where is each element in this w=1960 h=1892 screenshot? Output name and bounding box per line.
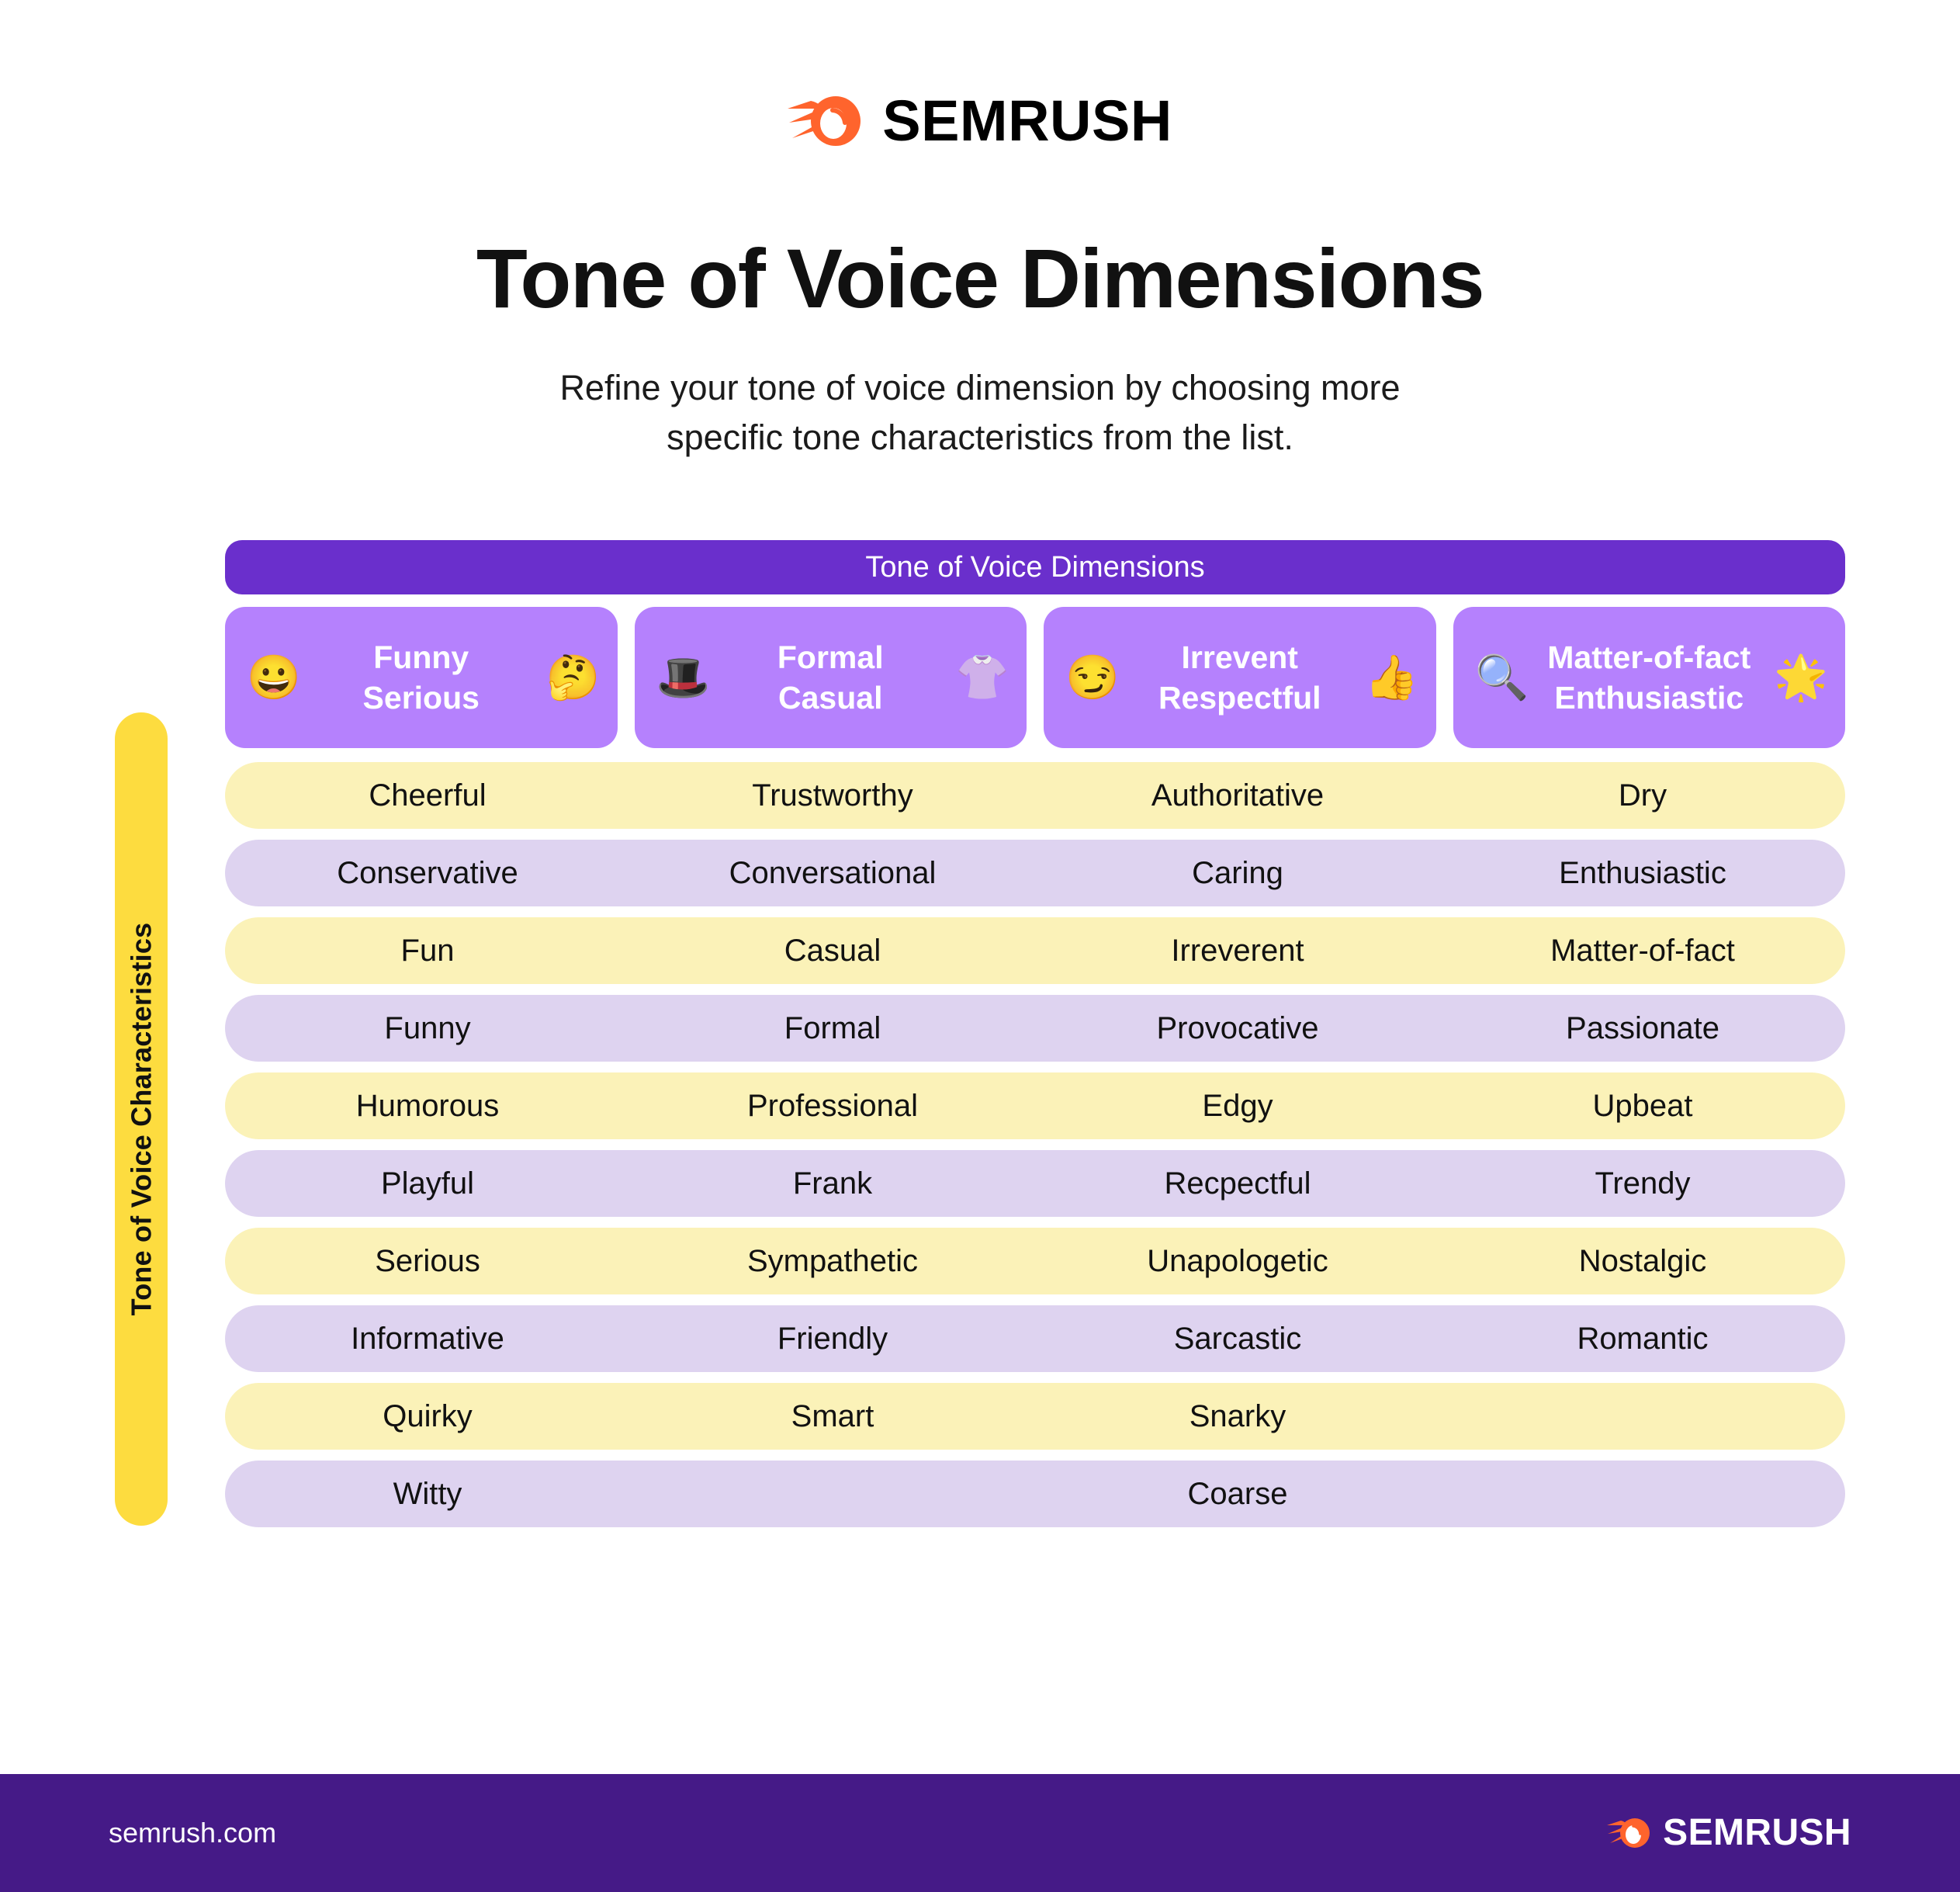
dimension-cards: 😀 Funny Serious 🤔 🎩 Formal Casual 👚 xyxy=(225,607,1845,748)
dimension-label-top: Matter-of-fact xyxy=(1547,639,1750,675)
semrush-comet-icon xyxy=(1607,1815,1650,1851)
dimension-label-top: Formal xyxy=(777,639,884,675)
dimension-card-irrevent-respectful-labels: Irrevent Respectful xyxy=(1115,637,1365,719)
table-cell[interactable]: Cheerful xyxy=(225,780,630,811)
dimension-card-matteroffact-enthusiastic[interactable]: 🔍 Matter-of-fact Enthusiastic 🌟 xyxy=(1453,607,1846,748)
characteristics-axis-label: Tone of Voice Characteristics xyxy=(115,712,168,1526)
footer-logo-lockup: SEMRUSH xyxy=(1607,1814,1851,1852)
characteristics-rows: Cheerful Trustworthy Authoritative Dry C… xyxy=(225,762,1845,1527)
table-cell[interactable]: Serious xyxy=(225,1246,630,1277)
table-cell[interactable]: Humorous xyxy=(225,1090,630,1121)
dimension-card-matteroffact-enthusiastic-labels: Matter-of-fact Enthusiastic xyxy=(1525,637,1775,719)
glowing-star-icon: 🌟 xyxy=(1774,656,1823,699)
table-row: Fun Casual Irreverent Matter-of-fact xyxy=(225,917,1845,984)
table-cell[interactable]: Provocative xyxy=(1035,1013,1440,1044)
table-cell[interactable]: Matter-of-fact xyxy=(1440,935,1845,966)
table-row: Serious Sympathetic Unapologetic Nostalg… xyxy=(225,1228,1845,1294)
semrush-wordmark: SEMRUSH xyxy=(882,92,1172,150)
dimension-card-formal-casual[interactable]: 🎩 Formal Casual 👚 xyxy=(635,607,1027,748)
table-cell[interactable]: Unapologetic xyxy=(1035,1246,1440,1277)
matrix-body: Tone of Voice Dimensions 😀 Funny Serious… xyxy=(225,540,1845,1527)
table-cell[interactable]: Professional xyxy=(630,1090,1035,1121)
table-row: Informative Friendly Sarcastic Romantic xyxy=(225,1305,1845,1372)
dimension-label-bottom: Casual xyxy=(778,680,882,716)
table-cell[interactable]: Coarse xyxy=(1035,1478,1440,1509)
table-cell[interactable]: Sarcastic xyxy=(1035,1323,1440,1354)
table-cell[interactable]: Nostalgic xyxy=(1440,1246,1845,1277)
table-cell[interactable]: Trendy xyxy=(1440,1168,1845,1199)
table-cell[interactable]: Casual xyxy=(630,935,1035,966)
table-cell[interactable]: Authoritative xyxy=(1035,780,1440,811)
dimension-label-bottom: Respectful xyxy=(1158,680,1321,716)
table-cell[interactable]: Playful xyxy=(225,1168,630,1199)
grinning-face-icon: 😀 xyxy=(247,656,296,699)
table-cell[interactable]: Edgy xyxy=(1035,1090,1440,1121)
table-cell[interactable]: Upbeat xyxy=(1440,1090,1845,1121)
brand-header: SEMRUSH xyxy=(0,0,1960,151)
table-cell[interactable]: Smart xyxy=(630,1401,1035,1432)
table-cell[interactable]: Fun xyxy=(225,935,630,966)
dimension-card-irrevent-respectful[interactable]: 😏 Irrevent Respectful 👍 xyxy=(1044,607,1436,748)
footer-bar: semrush.com SEMRUSH xyxy=(0,1774,1960,1892)
top-hat-icon: 🎩 xyxy=(656,656,706,699)
table-cell[interactable]: Frank xyxy=(630,1168,1035,1199)
table-cell[interactable]: Recpectful xyxy=(1035,1168,1440,1199)
table-cell[interactable]: Quirky xyxy=(225,1401,630,1432)
smirking-face-icon: 😏 xyxy=(1065,656,1115,699)
dimension-card-formal-casual-labels: Formal Casual xyxy=(706,637,956,719)
table-cell[interactable]: Informative xyxy=(225,1323,630,1354)
page-subtitle-line-1: Refine your tone of voice dimension by c… xyxy=(0,363,1960,413)
dimension-card-funny-serious[interactable]: 😀 Funny Serious 🤔 xyxy=(225,607,618,748)
blouse-icon: 👚 xyxy=(955,656,1005,699)
dimensions-header-text: Tone of Voice Dimensions xyxy=(865,551,1204,584)
table-cell[interactable]: Irreverent xyxy=(1035,935,1440,966)
table-cell[interactable]: Caring xyxy=(1035,858,1440,889)
table-row: Witty Coarse xyxy=(225,1461,1845,1527)
dimension-label-bottom: Serious xyxy=(363,680,480,716)
page-title: Tone of Voice Dimensions xyxy=(0,234,1960,323)
table-row: Quirky Smart Snarky xyxy=(225,1383,1845,1450)
table-row: Humorous Professional Edgy Upbeat xyxy=(225,1072,1845,1139)
characteristics-axis-label-text: Tone of Voice Characteristics xyxy=(125,923,158,1316)
magnifying-glass-icon: 🔍 xyxy=(1475,656,1525,699)
semrush-logo-lockup: SEMRUSH xyxy=(788,92,1172,151)
semrush-comet-icon xyxy=(788,92,862,151)
table-cell[interactable]: Friendly xyxy=(630,1323,1035,1354)
table-cell[interactable]: Dry xyxy=(1440,780,1845,811)
dimension-card-funny-serious-labels: Funny Serious xyxy=(296,637,546,719)
table-row: Cheerful Trustworthy Authoritative Dry xyxy=(225,762,1845,829)
table-cell[interactable]: Passionate xyxy=(1440,1013,1845,1044)
thumbs-up-icon: 👍 xyxy=(1365,656,1415,699)
table-row: Playful Frank Recpectful Trendy xyxy=(225,1150,1845,1217)
table-cell[interactable]: Funny xyxy=(225,1013,630,1044)
dimension-label-top: Funny xyxy=(373,639,469,675)
page-subtitle: Refine your tone of voice dimension by c… xyxy=(0,363,1960,463)
table-cell[interactable]: Romantic xyxy=(1440,1323,1845,1354)
table-cell[interactable]: Snarky xyxy=(1035,1401,1440,1432)
table-cell[interactable]: Sympathetic xyxy=(630,1246,1035,1277)
page-subtitle-line-2: specific tone characteristics from the l… xyxy=(0,413,1960,463)
table-cell[interactable]: Witty xyxy=(225,1478,630,1509)
layout-spacer xyxy=(0,1538,1960,1774)
table-cell[interactable]: Trustworthy xyxy=(630,780,1035,811)
table-cell[interactable]: Conservative xyxy=(225,858,630,889)
dimension-label-top: Irrevent xyxy=(1182,639,1298,675)
table-cell[interactable]: Conversational xyxy=(630,858,1035,889)
table-cell[interactable]: Formal xyxy=(630,1013,1035,1044)
dimension-label-bottom: Enthusiastic xyxy=(1554,680,1744,716)
table-row: Conservative Conversational Caring Enthu… xyxy=(225,840,1845,906)
dimensions-header-bar: Tone of Voice Dimensions xyxy=(225,540,1845,594)
infographic-page: SEMRUSH Tone of Voice Dimensions Refine … xyxy=(0,0,1960,1892)
table-cell[interactable]: Enthusiastic xyxy=(1440,858,1845,889)
tone-matrix: Tone of Voice Characteristics Tone of Vo… xyxy=(115,540,1845,1538)
table-row: Funny Formal Provocative Passionate xyxy=(225,995,1845,1062)
thinking-face-icon: 🤔 xyxy=(546,656,596,699)
semrush-wordmark: SEMRUSH xyxy=(1663,1814,1851,1852)
footer-website-url[interactable]: semrush.com xyxy=(109,1817,276,1849)
